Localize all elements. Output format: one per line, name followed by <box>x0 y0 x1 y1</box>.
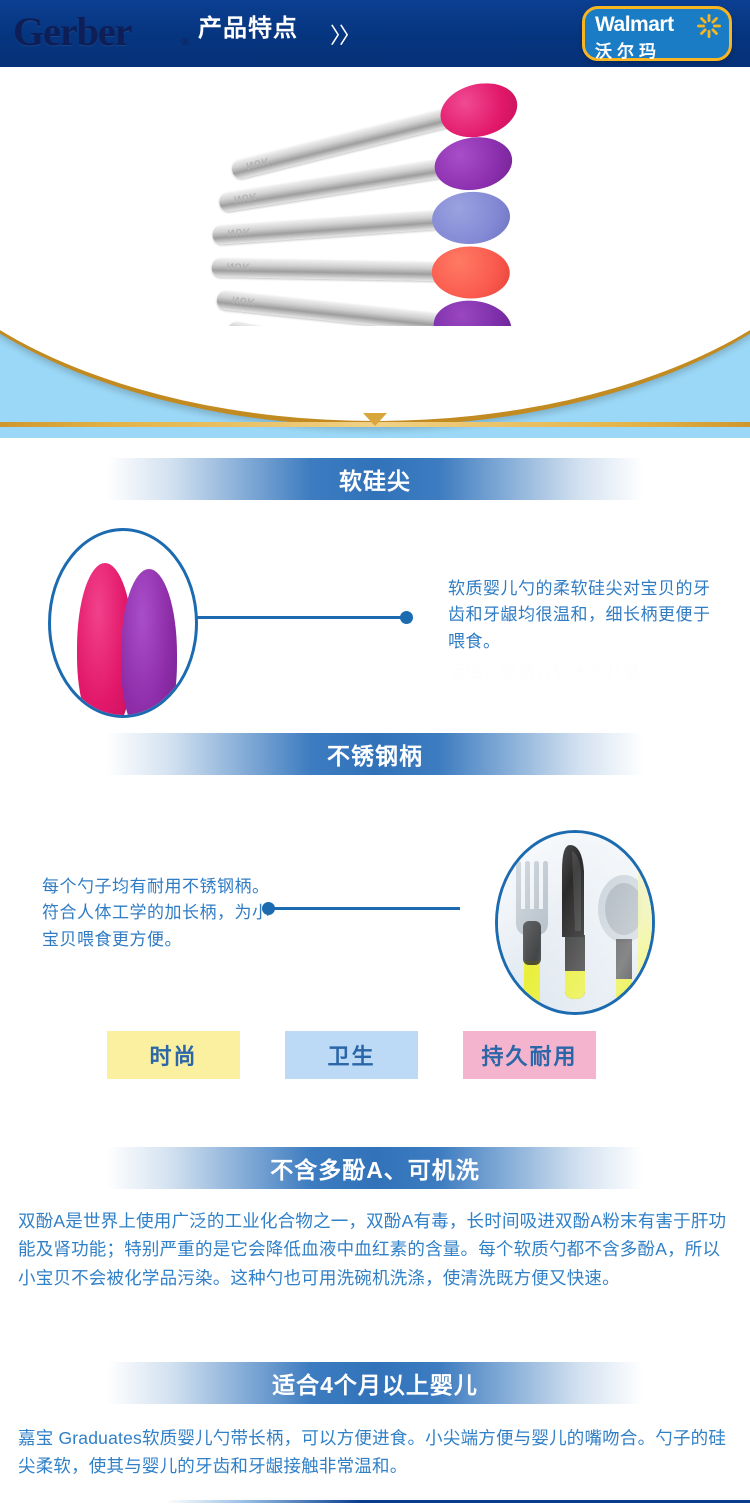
steel-handle-leader-line <box>270 907 460 910</box>
section-title: 适合4个月以上婴儿 <box>272 1366 478 1400</box>
walmart-spark-icon <box>697 14 721 38</box>
hero-gold-arc-highlight <box>0 326 750 427</box>
plastic-glare-overlay <box>498 833 652 1012</box>
soft-tip-leader-line <box>195 616 405 619</box>
spoon-tip <box>431 132 516 196</box>
section-title: 软硅尖 <box>339 462 411 496</box>
section-bar-soft-tip: 软硅尖 <box>0 458 750 500</box>
nuk-emboss-label: NUK <box>245 155 270 171</box>
gerber-logo: Gerber <box>13 12 131 52</box>
age-paragraph: 嘉宝 Graduates软质婴儿勺带长柄，可以方便进食。小尖端方便与婴儿的嘴吻合… <box>18 1424 734 1481</box>
hero-blue-band <box>0 326 750 438</box>
soft-tip-ghost-text: 活性，更适合较大的儿童 <box>448 660 718 686</box>
spoon-tip <box>431 246 510 299</box>
cutlery-photo <box>498 833 652 1012</box>
spoon-tip <box>430 189 511 246</box>
nuk-emboss-label: NUK <box>227 260 250 271</box>
section-bar: 不锈钢柄 <box>107 733 643 775</box>
steel-handle-image-oval <box>495 830 655 1015</box>
hero-banner: NUK NUK NUK NUK NUK NUK <box>0 67 750 438</box>
spoon-handle: NUK <box>212 210 443 245</box>
section-bar-steel-handle: 不锈钢柄 <box>0 733 750 775</box>
section-bar: 适合4个月以上婴儿 <box>107 1362 643 1404</box>
hero-arrow-notch-icon <box>363 413 387 426</box>
section-title: 不锈钢柄 <box>327 737 423 771</box>
section-bar-age: 适合4个月以上婴儿 <box>0 1362 750 1404</box>
badge-hygiene: 卫生 <box>285 1031 418 1079</box>
registered-mark: ® <box>181 36 189 48</box>
section-bar: 软硅尖 <box>107 458 643 500</box>
section-bar: 不含多酚A、可机洗 <box>107 1147 643 1189</box>
section-title: 不含多酚A、可机洗 <box>270 1151 480 1185</box>
badge-durable: 持久耐用 <box>463 1031 596 1079</box>
section-bar-bpa-free: 不含多酚A、可机洗 <box>0 1147 750 1189</box>
nuk-emboss-label: NUK <box>233 190 258 204</box>
badge-label: 时尚 <box>149 1039 197 1071</box>
page-header: Gerber ® 产品特点 〉〉 Walmart 沃尔玛 <box>0 0 750 67</box>
badge-label: 持久耐用 <box>481 1039 577 1071</box>
soft-tip-image-oval <box>48 528 198 718</box>
walmart-wordmark-cn: 沃尔玛 <box>595 37 661 62</box>
soft-tip-description: 软质婴儿勺的柔软硅尖对宝贝的牙齿和牙龈均很温和，细长柄更便于喂食。 <box>448 576 718 655</box>
spoon-tip <box>435 76 523 145</box>
walmart-wordmark: Walmart <box>595 13 674 37</box>
spoon-handle: NUK <box>212 258 442 281</box>
nuk-emboss-label: NUK <box>227 225 251 238</box>
chevron-right-icon: 〉〉 <box>330 18 359 50</box>
walmart-logo-badge: Walmart 沃尔玛 <box>582 6 732 61</box>
mini-spoon-purple <box>121 569 177 718</box>
soft-tip-leader-dot <box>400 611 413 624</box>
steel-handle-description: 每个勺子均有耐用不锈钢柄。符合人体工学的加长柄，为小宝贝喂食更方便。 <box>42 874 282 953</box>
badge-fashion: 时尚 <box>107 1031 240 1079</box>
bpa-free-paragraph: 双酚A是世界上使用广泛的工业化合物之一，双酚A有毒，长时间吸进双酚A粉末有害于肝… <box>18 1207 734 1292</box>
footer-divider <box>0 1500 750 1503</box>
page-title: 产品特点 <box>198 17 298 41</box>
nuk-emboss-label: NUK <box>232 294 256 307</box>
badge-label: 卫生 <box>327 1039 375 1071</box>
